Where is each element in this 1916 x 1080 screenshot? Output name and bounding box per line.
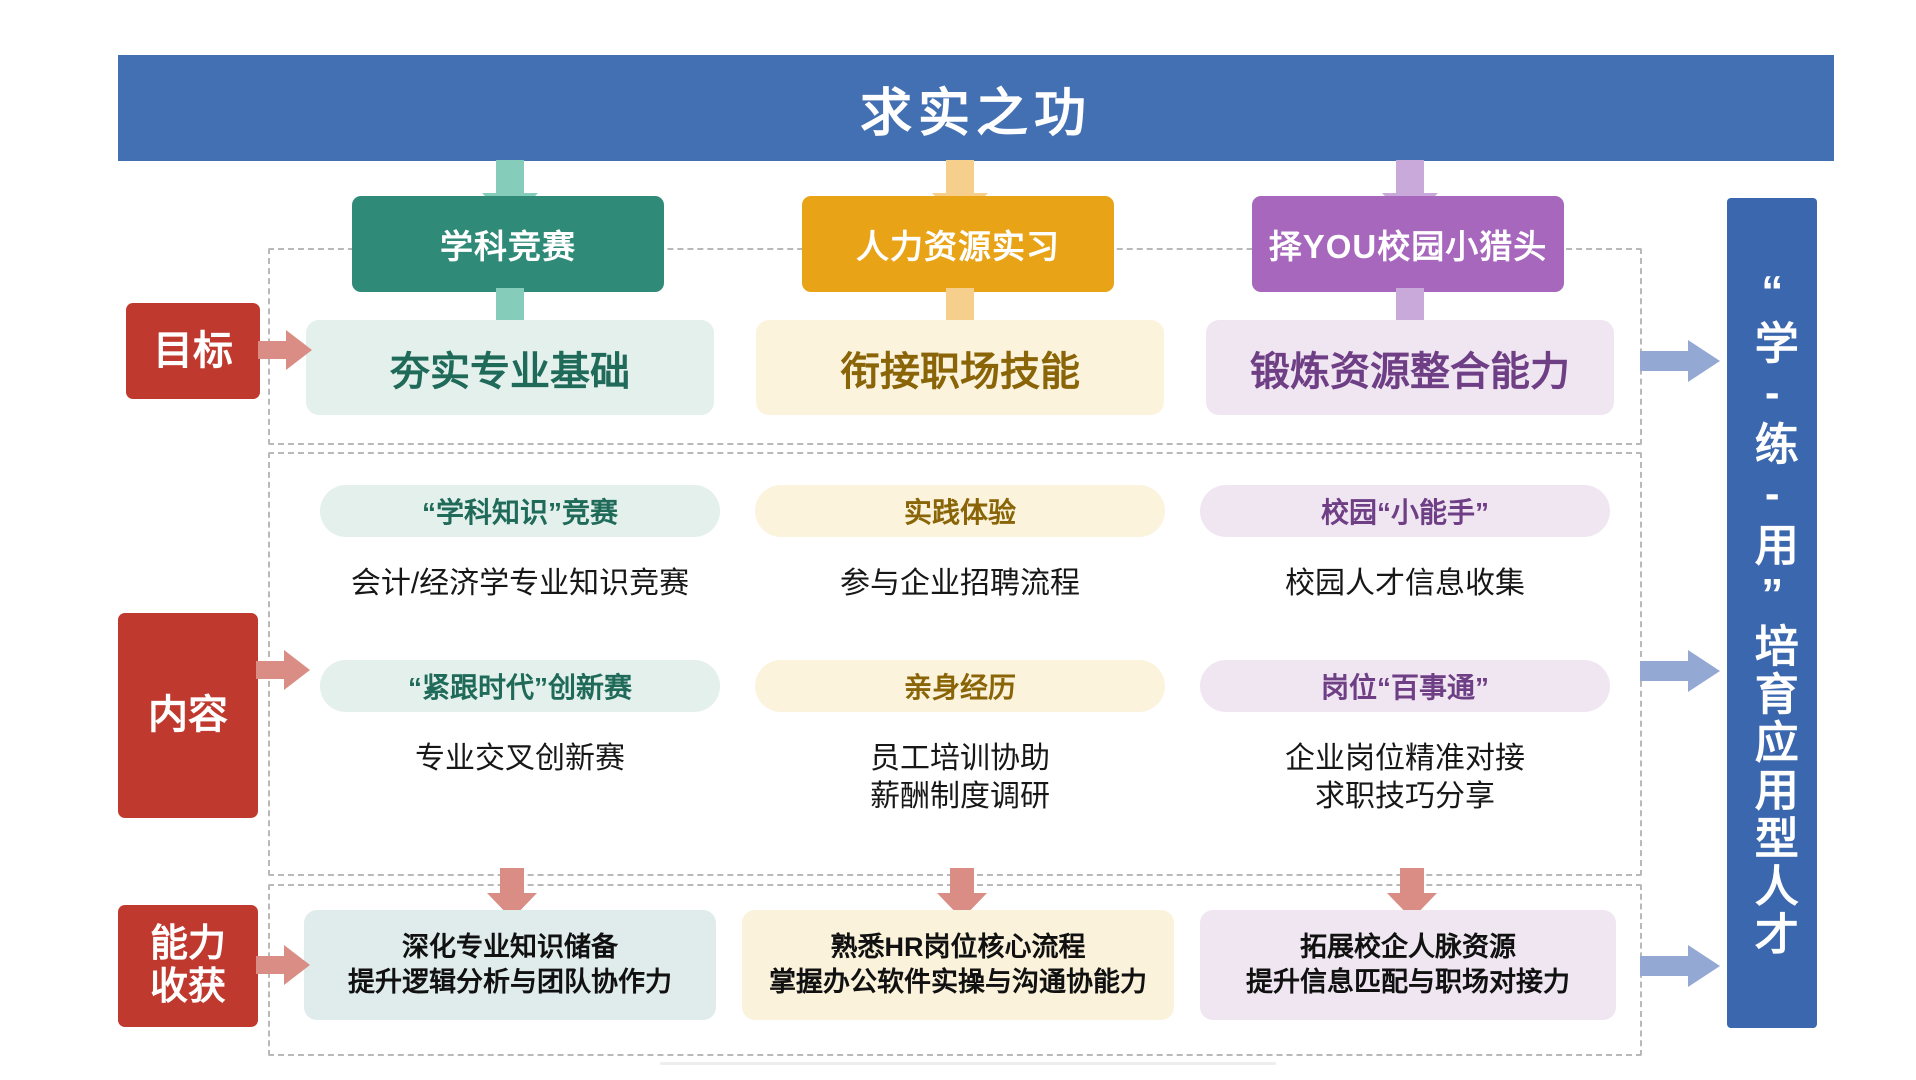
title-banner: 求实之功 xyxy=(118,55,1834,161)
bottom-divider xyxy=(660,1062,1276,1065)
diagram-canvas: 求实之功 学科竞赛 人力资源实习 择YOU校园小猎头 夯实专业基础 xyxy=(0,0,1916,1080)
program-header-label: 人力资源实习 xyxy=(856,220,1060,268)
program-header-2[interactable]: 择YOU校园小猎头 xyxy=(1252,196,1564,292)
content-pill-label: 亲身经历 xyxy=(904,666,1016,706)
ability-box-0[interactable]: 深化专业知识储备 提升逻辑分析与团队协作力 xyxy=(304,910,716,1020)
content-pill-2-0[interactable]: 校园“小能手” xyxy=(1200,485,1610,537)
content-pill-label: 岗位“百事通” xyxy=(1321,666,1489,706)
content-pill-label: 实践体验 xyxy=(904,491,1016,531)
content-pill-0-0[interactable]: “学科知识”竞赛 xyxy=(320,485,720,537)
row-label-goal: 目标 xyxy=(126,303,260,399)
right-panel-text: “学-练-用”培育应用型人才 xyxy=(1748,267,1796,959)
program-header-0[interactable]: 学科竞赛 xyxy=(352,196,664,292)
right-outcome-panel: “学-练-用”培育应用型人才 xyxy=(1727,198,1817,1028)
program-header-1[interactable]: 人力资源实习 xyxy=(802,196,1114,292)
goal-box-2[interactable]: 锻炼资源整合能力 xyxy=(1206,320,1614,415)
content-pill-0-1[interactable]: “紧跟时代”创新赛 xyxy=(320,660,720,712)
row-label-text: 内容 xyxy=(148,693,228,738)
row-label-content: 内容 xyxy=(118,613,258,818)
content-desc-2-1: 企业岗位精准对接 求职技巧分享 xyxy=(1200,740,1610,816)
row-label-text: 目标 xyxy=(153,329,233,374)
program-header-label: 择YOU校园小猎头 xyxy=(1269,220,1548,268)
content-pill-2-1[interactable]: 岗位“百事通” xyxy=(1200,660,1610,712)
ability-box-1[interactable]: 熟悉HR岗位核心流程 掌握办公软件实操与沟通协能力 xyxy=(742,910,1174,1020)
row-label-ability: 能力 收获 xyxy=(118,905,258,1027)
ability-box-2[interactable]: 拓展校企人脉资源 提升信息匹配与职场对接力 xyxy=(1200,910,1616,1020)
ability-line: 提升信息匹配与职场对接力 xyxy=(1246,965,1570,1000)
ability-line: 熟悉HR岗位核心流程 xyxy=(831,930,1086,965)
content-desc-1-0: 参与企业招聘流程 xyxy=(755,565,1165,603)
content-desc-2-0: 校园人才信息收集 xyxy=(1200,565,1610,603)
goal-label: 锻炼资源整合能力 xyxy=(1250,339,1570,397)
ability-line: 拓展校企人脉资源 xyxy=(1300,930,1516,965)
content-desc-0-1: 专业交叉创新赛 xyxy=(320,740,720,778)
goal-box-1[interactable]: 衔接职场技能 xyxy=(756,320,1164,415)
content-pill-1-1[interactable]: 亲身经历 xyxy=(755,660,1165,712)
arrow-right-to-panel-content xyxy=(1640,650,1724,692)
goal-label: 夯实专业基础 xyxy=(390,339,630,397)
arrow-right-ability xyxy=(256,945,314,985)
arrow-right-content xyxy=(256,650,314,690)
content-desc-1-1: 员工培训协助 薪酬制度调研 xyxy=(755,740,1165,816)
row-label-text: 能力 收获 xyxy=(150,923,226,1008)
content-pill-label: “学科知识”竞赛 xyxy=(422,491,618,531)
goal-box-0[interactable]: 夯实专业基础 xyxy=(306,320,714,415)
goal-label: 衔接职场技能 xyxy=(840,339,1080,397)
content-pill-label: “紧跟时代”创新赛 xyxy=(408,666,632,706)
page-title: 求实之功 xyxy=(860,71,1092,146)
program-header-label: 学科竞赛 xyxy=(440,220,576,268)
content-desc-0-0: 会计/经济学专业知识竞赛 xyxy=(320,565,720,603)
ability-line: 深化专业知识储备 xyxy=(402,930,618,965)
ability-line: 提升逻辑分析与团队协作力 xyxy=(348,965,672,1000)
arrow-right-to-panel-goal xyxy=(1640,340,1724,382)
ability-line: 掌握办公软件实操与沟通协能力 xyxy=(769,965,1147,1000)
arrow-right-goal xyxy=(258,330,316,370)
content-pill-1-0[interactable]: 实践体验 xyxy=(755,485,1165,537)
arrow-right-to-panel-ability xyxy=(1640,945,1724,987)
content-pill-label: 校园“小能手” xyxy=(1321,491,1489,531)
